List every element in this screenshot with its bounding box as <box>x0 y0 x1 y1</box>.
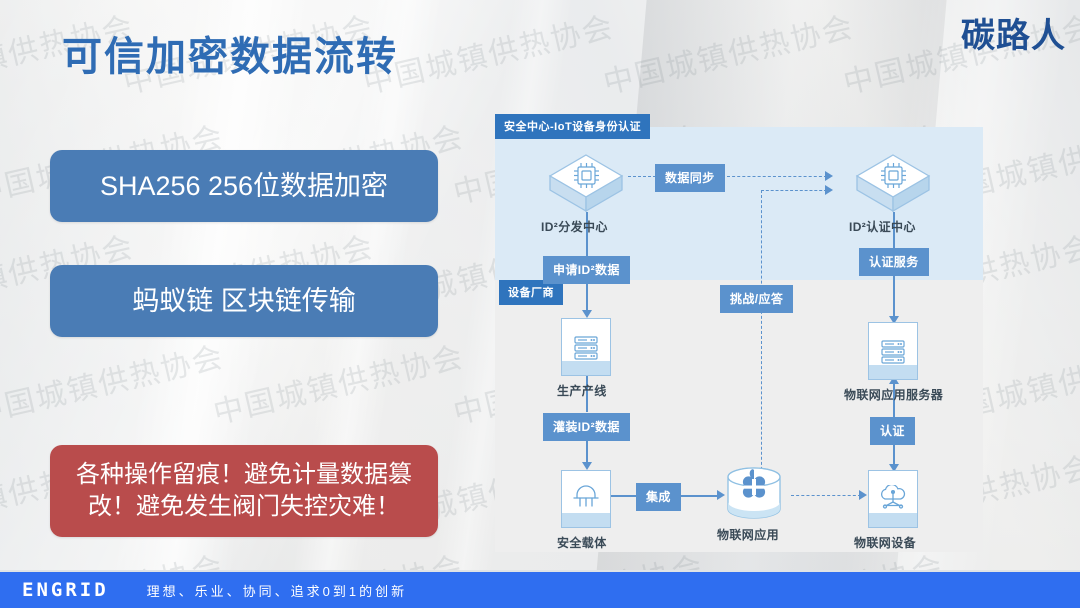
arrowhead-sync-to-auth <box>825 171 833 181</box>
edge-label-auth-service: 认证服务 <box>859 248 929 276</box>
clover-icon <box>725 466 783 520</box>
arrowhead-app-to-device <box>859 490 867 500</box>
chip-cube-icon <box>854 152 932 214</box>
chip-pins-icon <box>571 485 601 511</box>
edge-carrier-to-integrate <box>611 495 637 497</box>
callout-blockchain-label: 蚂蚁链 区块链传输 <box>132 283 356 319</box>
node-secure-carrier <box>561 470 611 528</box>
page-title: 可信加密数据流转 <box>62 24 398 82</box>
edge-label-data-sync: 数据同步 <box>655 164 725 192</box>
node-label-production-line: 生产产线 <box>557 382 607 399</box>
callout-sha256-label: SHA256 256位数据加密 <box>100 168 388 204</box>
edge-label-challenge-response: 挑战/应答 <box>720 285 793 313</box>
node-id2-distribution <box>547 152 625 214</box>
node-fill <box>869 365 917 379</box>
panel-tab-security-center: 安全中心-IoT设备身份认证 <box>495 114 650 139</box>
chip-cube-icon <box>547 152 625 214</box>
node-label-iot-app-server: 物联网应用服务器 <box>844 386 943 403</box>
edge-authsvc-to-appserver <box>893 274 895 322</box>
node-iot-device <box>868 470 918 528</box>
edge-sync-to-auth <box>727 176 827 177</box>
edge-challenge-vertical <box>761 190 762 490</box>
server-icon <box>879 339 907 365</box>
edge-challenge-to-auth <box>761 190 827 191</box>
edge-label-authenticate: 认证 <box>870 417 915 445</box>
footer-logo: ENGRID <box>22 579 109 601</box>
callout-warning: 各种操作留痕！避免计量数据篡 改！避免发生阀门失控灾难！ <box>50 445 438 537</box>
callout-blockchain: 蚂蚁链 区块链传输 <box>50 265 438 337</box>
callout-warning-line1: 各种操作留痕！避免计量数据篡 <box>76 461 412 488</box>
edge-app-to-device <box>791 495 861 496</box>
callout-warning-text: 各种操作留痕！避免计量数据篡 改！避免发生阀门失控灾难！ <box>76 459 412 524</box>
edge-label-fill-id2: 灌装ID²数据 <box>543 413 630 441</box>
arrowhead-challenge-to-auth <box>825 185 833 195</box>
callout-sha256: SHA256 256位数据加密 <box>50 150 438 222</box>
node-label-id2-auth-center: ID²认证中心 <box>849 218 916 235</box>
footer-bar: ENGRID 理想、乐业、协同、追求0到1的创新 <box>0 572 1080 608</box>
node-iot-app-server <box>868 322 918 380</box>
edge-dist-to-sync <box>628 176 656 177</box>
arrowhead-to-production <box>582 310 592 318</box>
callout-warning-line2: 改！避免发生阀门失控灾难！ <box>88 493 400 520</box>
architecture-diagram: 安全中心-IoT设备身份认证 设备厂商 <box>495 114 983 552</box>
edge-label-apply-id2: 申请ID²数据 <box>543 256 630 284</box>
edge-integrate-to-app <box>677 495 719 497</box>
edge-label-integrate: 集成 <box>636 483 681 511</box>
cloud-device-icon <box>877 485 909 511</box>
node-label-iot-device: 物联网设备 <box>854 534 916 551</box>
node-production-line <box>561 318 611 376</box>
brand-logo: 碳路人 <box>961 8 1066 57</box>
footer-slogan: 理想、乐业、协同、追求0到1的创新 <box>147 581 407 600</box>
node-fill <box>562 361 610 375</box>
node-fill <box>869 513 917 527</box>
node-label-secure-carrier: 安全载体 <box>557 534 607 551</box>
server-icon <box>572 335 600 361</box>
arrowhead-to-iot-app <box>717 490 725 500</box>
node-iot-application <box>725 466 783 520</box>
arrowhead-to-carrier <box>582 462 592 470</box>
node-label-id2-distribution: ID²分发中心 <box>541 218 608 235</box>
node-fill <box>562 513 610 527</box>
node-label-iot-application: 物联网应用 <box>717 526 779 543</box>
node-id2-auth-center <box>854 152 932 214</box>
